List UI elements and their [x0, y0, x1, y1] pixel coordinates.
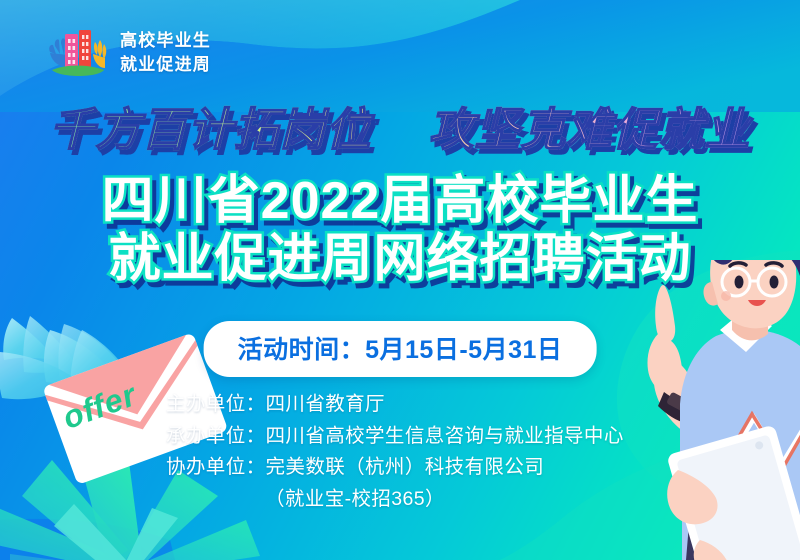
date-badge-text: 活动时间：5月15日-5月31日	[238, 336, 563, 364]
slogan-phrase-2: 攻坚克难促就业	[429, 107, 751, 152]
organizer-note: （就业宝-校招365）	[166, 484, 624, 516]
organizer-label-undertaker: 承办单位：	[166, 425, 266, 447]
organizer-row-host: 主办单位：四川省教育厅	[166, 389, 624, 421]
organizer-value-host: 四川省教育厅	[266, 393, 385, 415]
organizer-value-undertaker: 四川省高校学生信息咨询与就业指导中心	[266, 425, 624, 447]
logo-line-2: 就业促进周	[120, 53, 211, 77]
main-title-line-1: 四川省2022届高校毕业生	[0, 172, 800, 230]
organizer-row-undertaker: 承办单位：四川省高校学生信息咨询与就业指导中心	[166, 421, 624, 453]
organizer-list: 主办单位：四川省教育厅 承办单位：四川省高校学生信息咨询与就业指导中心 协办单位…	[166, 389, 624, 515]
organizer-label-host: 主办单位：	[166, 393, 266, 415]
organizer-value-coorganizer: 完美数联（杭州）科技有限公司	[266, 456, 545, 478]
graduate-employment-week-logo-icon	[46, 24, 108, 82]
logo: 高校毕业生 就业促进周	[46, 24, 211, 82]
logo-text: 高校毕业生 就业促进周	[120, 29, 211, 77]
organizer-row-coorganizer: 协办单位：完美数联（杭州）科技有限公司	[166, 452, 624, 484]
logo-line-1: 高校毕业生	[120, 29, 211, 53]
slogan-phrase-1: 千方百计拓岗位	[49, 107, 371, 152]
main-title-line-2: 就业促进周网络招聘活动	[0, 230, 800, 288]
organizer-label-coorganizer: 协办单位：	[166, 456, 266, 478]
main-title: 四川省2022届高校毕业生 就业促进周网络招聘活动	[0, 172, 800, 288]
slogan: 千方百计拓岗位 攻坚克难促就业	[0, 107, 800, 152]
date-badge: 活动时间：5月15日-5月31日	[204, 321, 597, 377]
promotional-poster: offer	[0, 0, 800, 560]
